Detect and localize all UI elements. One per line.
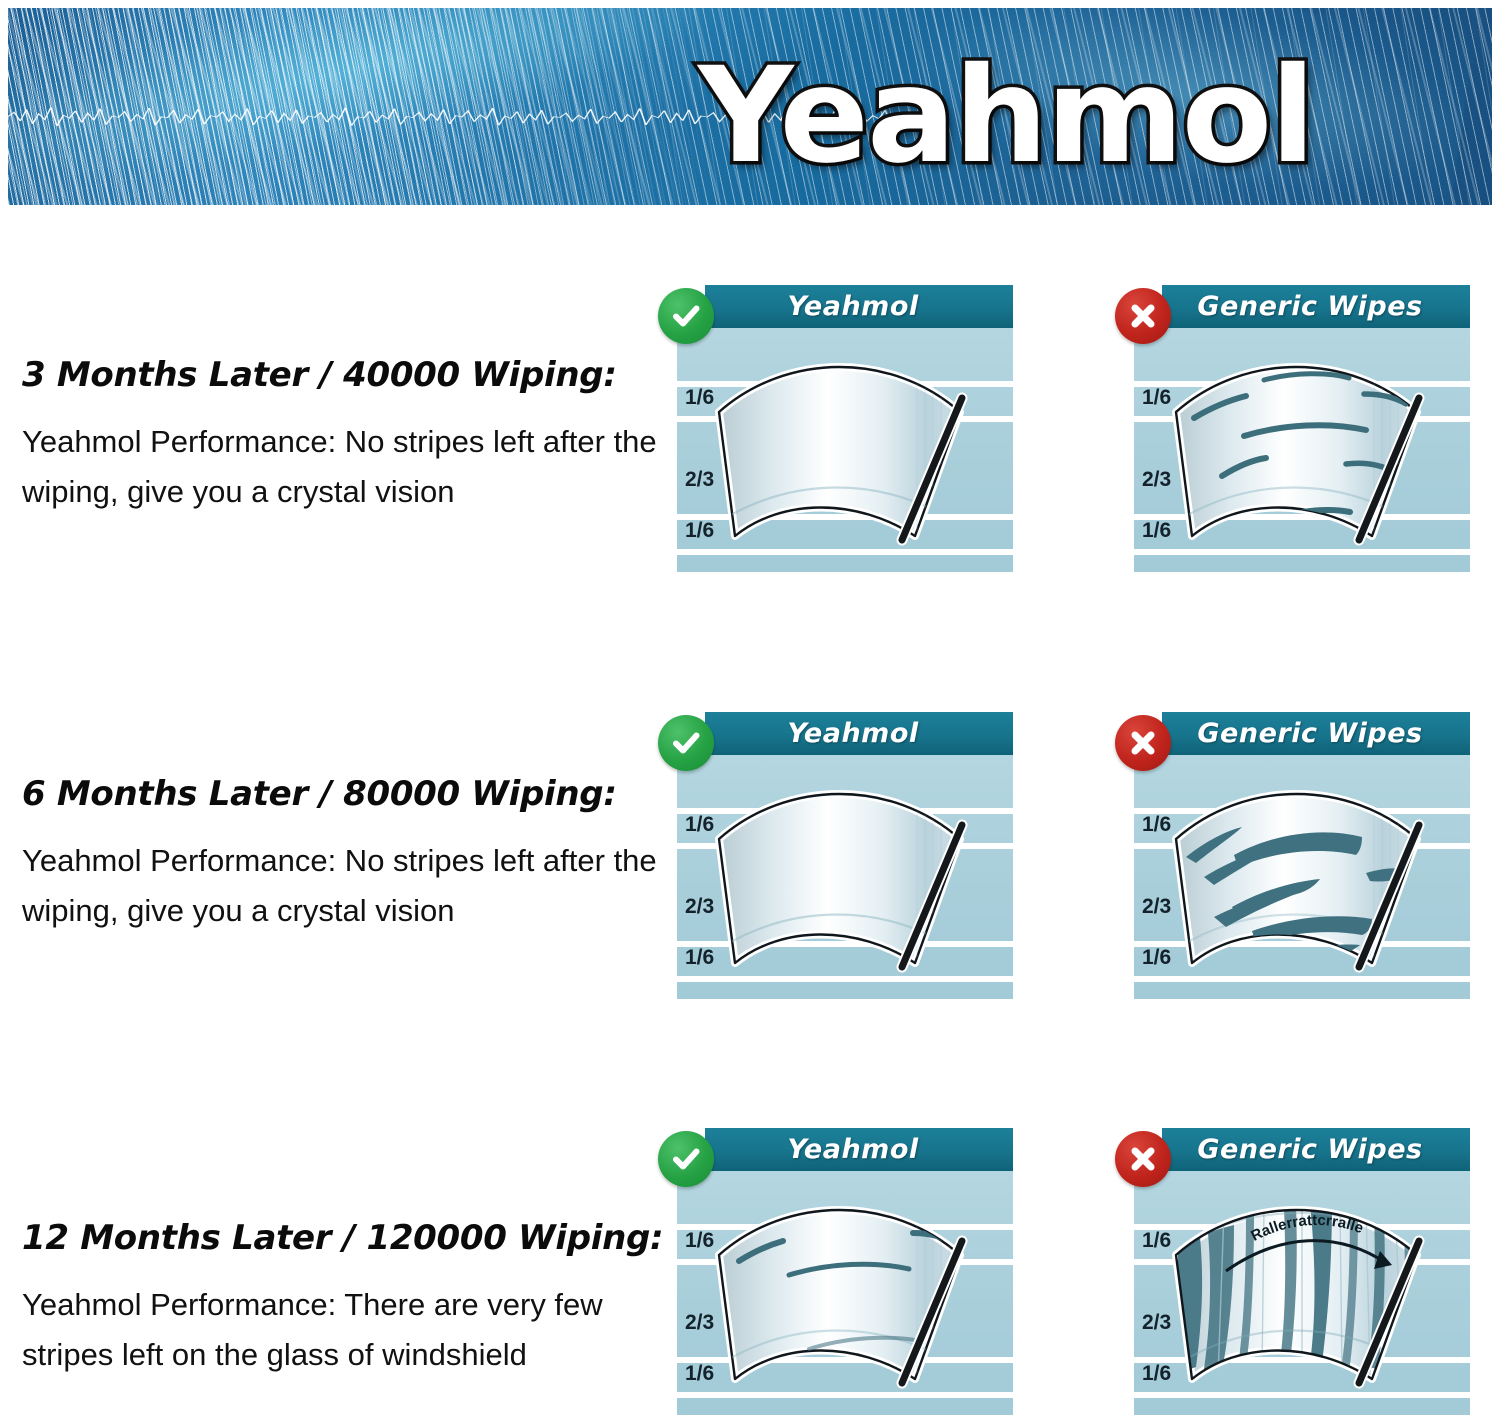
row-1-text-block: 3 Months Later / 40000 Wiping: Yeahmol P… [22,355,662,517]
row-2-yeahmol-panel: Yeahmol 1/6 2/3 1/6 [655,712,1013,999]
brand-logo-text: Yeahmol [698,50,1314,182]
row-3-generic-body: 1/6 2/3 1/6 [1134,1171,1470,1415]
windshield-glass-chatter-marks: Rallerrattcrralle [1134,1171,1470,1415]
check-circle-icon [658,288,714,344]
windshield-glass-streaked-heavy [1134,755,1470,999]
row-1-generic-body: 1/6 2/3 1/6 [1134,328,1470,572]
row-2-generic-title: Generic Wipes [1197,718,1434,749]
windshield-glass-clean [677,755,1013,999]
check-circle-icon [658,1131,714,1187]
row-2-generic-panel: Generic Wipes 1/6 2/3 1/6 [1112,712,1470,999]
row-2-generic-header: Generic Wipes [1162,712,1470,755]
row-1-yeahmol-body: 1/6 2/3 1/6 [677,328,1013,572]
row-1-generic-header: Generic Wipes [1162,285,1470,328]
row-3-body: Yeahmol Performance: There are very few … [22,1280,662,1380]
x-circle-icon [1115,715,1171,771]
row-3-text-block: 12 Months Later / 120000 Wiping: Yeahmol… [22,1218,662,1380]
row-2-heading: 6 Months Later / 80000 Wiping: [22,774,662,814]
x-circle-icon [1115,288,1171,344]
row-1-generic-title: Generic Wipes [1197,291,1434,322]
windshield-glass-clean [677,328,1013,572]
row-2-text-block: 6 Months Later / 80000 Wiping: Yeahmol P… [22,774,662,936]
row-1-yeahmol-panel: Yeahmol 1/6 2/3 1/6 [655,285,1013,572]
windshield-glass-few-streaks [677,1171,1013,1415]
row-3-generic-title: Generic Wipes [1197,1134,1434,1165]
row-3-yeahmol-title: Yeahmol [787,1134,930,1165]
row-1-yeahmol-title: Yeahmol [787,291,930,322]
row-2-yeahmol-title: Yeahmol [787,718,930,749]
row-3-heading: 12 Months Later / 120000 Wiping: [22,1218,662,1258]
row-1-heading: 3 Months Later / 40000 Wiping: [22,355,662,395]
row-3-yeahmol-body: 1/6 2/3 1/6 [677,1171,1013,1415]
row-2-yeahmol-body: 1/6 2/3 1/6 [677,755,1013,999]
row-1-generic-panel: Generic Wipes 1/6 2/3 1/6 [1112,285,1470,572]
row-2-generic-body: 1/6 2/3 1/6 [1134,755,1470,999]
row-3-yeahmol-header: Yeahmol [705,1128,1013,1171]
row-2-yeahmol-header: Yeahmol [705,712,1013,755]
row-2-body: Yeahmol Performance: No stripes left aft… [22,836,662,936]
x-circle-icon [1115,1131,1171,1187]
check-circle-icon [658,715,714,771]
row-1-yeahmol-header: Yeahmol [705,285,1013,328]
brand-banner: Yeahmol [8,8,1492,205]
row-1-body: Yeahmol Performance: No stripes left aft… [22,417,662,517]
windshield-glass-streaked-light [1134,328,1470,572]
row-3-generic-panel: Generic Wipes 1/6 2/3 1/6 [1112,1128,1470,1415]
row-3-yeahmol-panel: Yeahmol 1/6 2/3 1/6 [655,1128,1013,1415]
row-3-generic-header: Generic Wipes [1162,1128,1470,1171]
